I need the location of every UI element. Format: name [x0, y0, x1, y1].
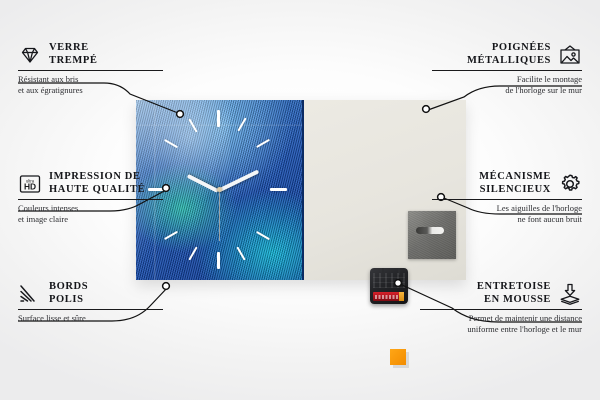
callout-subtitle-line1: Les aiguilles de l'horloge [432, 203, 582, 214]
diamond-icon [18, 43, 42, 67]
hour-tick [164, 139, 178, 148]
callout-subtitle-line2: de l'horloge sur le mur [432, 85, 582, 96]
hour-tick [188, 118, 197, 132]
product-image [136, 100, 466, 280]
callout-title: IMPRESSION DE HAUTE QUALITÉ [49, 171, 145, 196]
battery [373, 292, 404, 301]
ultra-hd-icon: ultra HD [18, 172, 42, 196]
hour-tick [256, 231, 270, 240]
callout-header: VERRE TREMPÉ [18, 42, 168, 67]
callout-subtitle-line1: Surface lisse et sûre [18, 313, 168, 324]
spacer-stack-icon [558, 282, 582, 306]
callout-impression-haute-qualite: ultra HD IMPRESSION DE HAUTE QUALITÉ Cou… [18, 171, 168, 224]
foam-spacer [390, 349, 406, 365]
callout-subtitle-line1: Permet de maintenir une distance [420, 313, 582, 324]
callout-divider [18, 309, 163, 310]
callout-subtitle-line1: Couleurs intenses [18, 203, 168, 214]
hour-tick [188, 246, 197, 260]
callout-title: POIGNÉES MÉTALLIQUES [467, 42, 551, 67]
movement-vents [373, 273, 405, 288]
hand-hub [217, 187, 222, 192]
callout-header: BORDS POLIS [18, 281, 168, 306]
callout-title: VERRE TREMPÉ [49, 42, 98, 67]
hour-tick [256, 139, 270, 148]
hanger-keyhole-slot [416, 227, 444, 234]
hour-tick [217, 252, 220, 269]
callout-subtitle-line2: uniforme entre l'horloge et le mur [420, 324, 582, 335]
callout-divider [420, 309, 582, 310]
hour-tick [236, 246, 245, 260]
callout-title: BORDS POLIS [49, 281, 88, 306]
hour-hand [187, 174, 219, 193]
battery-positive-cap [399, 292, 404, 301]
quartz-movement [370, 268, 408, 304]
hour-tick [164, 231, 178, 240]
second-hand [219, 189, 221, 241]
callout-subtitle-line2: et aux égratignures [18, 85, 168, 96]
callout-subtitle-line1: Facilite le montage [432, 74, 582, 85]
callout-header: POIGNÉES MÉTALLIQUES [432, 42, 582, 67]
callout-header: ultra HD IMPRESSION DE HAUTE QUALITÉ [18, 171, 168, 196]
callout-title: MÉCANISME SILENCIEUX [479, 171, 551, 196]
infographic-canvas: VERRE TREMPÉ Résistant aux bris et aux é… [0, 0, 600, 400]
hour-tick [237, 117, 246, 131]
callout-bords-polis: BORDS POLIS Surface lisse et sûre [18, 281, 168, 324]
callout-subtitle-line2: et image claire [18, 214, 168, 225]
callout-divider [432, 199, 582, 200]
picture-hanger-icon [558, 43, 582, 67]
callout-poignees-metalliques: POIGNÉES MÉTALLIQUES Facilite le montage… [432, 42, 582, 95]
callout-header: ENTRETOISE EN MOUSSE [420, 281, 582, 306]
hour-tick [217, 110, 220, 127]
hour-tick [270, 188, 287, 191]
callout-subtitle-line2: ne font aucun bruit [432, 214, 582, 225]
diagonal-lines-icon [18, 282, 42, 306]
svg-text:HD: HD [24, 181, 36, 191]
callout-entretoise-en-mousse: ENTRETOISE EN MOUSSE Permet de maintenir… [420, 281, 582, 334]
battery-label [375, 295, 398, 299]
minute-hand [217, 169, 259, 192]
callout-divider [18, 70, 163, 71]
callout-header: MÉCANISME SILENCIEUX [432, 171, 582, 196]
gear-icon [558, 172, 582, 196]
callout-title: ENTRETOISE EN MOUSSE [477, 281, 551, 306]
callout-divider [18, 199, 163, 200]
callout-subtitle-line1: Résistant aux bris [18, 74, 168, 85]
callout-divider [432, 70, 582, 71]
callout-verre-trempe: VERRE TREMPÉ Résistant aux bris et aux é… [18, 42, 168, 95]
callout-mecanisme-silencieux: MÉCANISME SILENCIEUX Les aiguilles de l'… [432, 171, 582, 224]
